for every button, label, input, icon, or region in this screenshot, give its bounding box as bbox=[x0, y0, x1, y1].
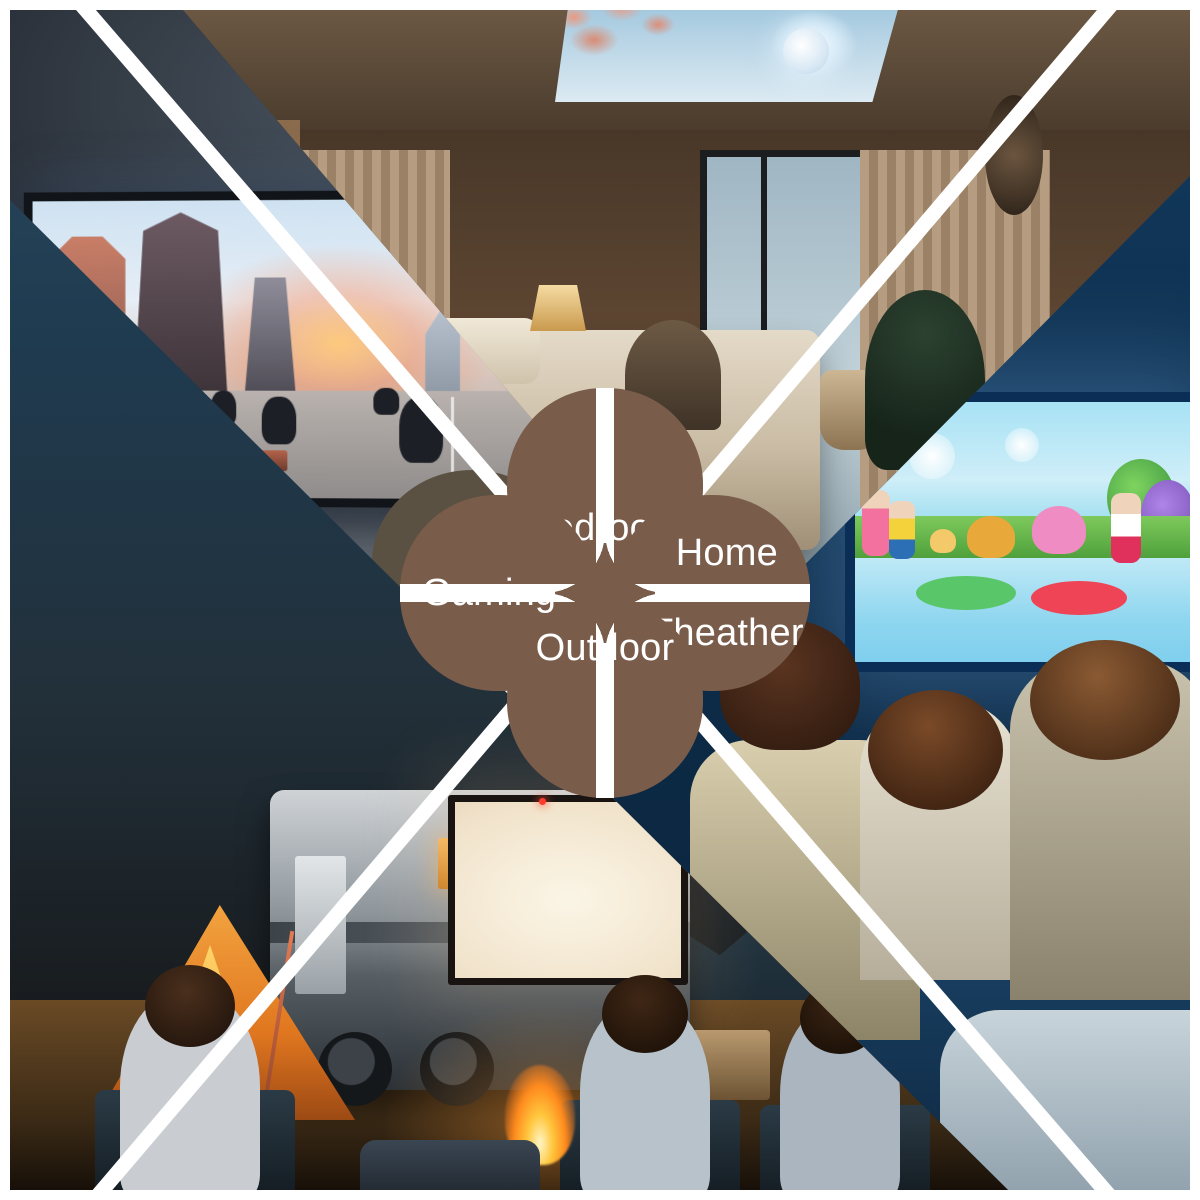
projected-moon bbox=[783, 28, 829, 74]
rv-door bbox=[295, 856, 345, 994]
bedroom-ceiling-projection bbox=[555, 2, 900, 102]
game-building bbox=[245, 277, 296, 396]
animation-toy-bear bbox=[967, 516, 1015, 558]
viewer-adult-man-hair bbox=[1030, 640, 1180, 760]
bedside-lamp bbox=[530, 285, 586, 331]
animation-cloud bbox=[1005, 428, 1039, 462]
projected-cherry-blossom bbox=[555, 2, 734, 88]
badge-center-star bbox=[555, 543, 655, 643]
viewer-child-hair bbox=[868, 690, 1003, 810]
badge-label-home-theather-line1: Home bbox=[650, 533, 804, 573]
game-character bbox=[373, 388, 399, 415]
camp-bag bbox=[360, 1140, 540, 1200]
animation-character bbox=[1111, 493, 1141, 563]
bedroom-wall-art bbox=[985, 95, 1043, 215]
animation-toy-pink bbox=[1032, 506, 1086, 554]
collage-root: Bedroom Gaming Home Theather Outdoor bbox=[0, 0, 1200, 1200]
animation-float-ring bbox=[916, 576, 1016, 610]
game-character bbox=[262, 397, 296, 445]
use-case-badge: Bedroom Gaming Home Theather Outdoor bbox=[400, 388, 810, 798]
animation-water bbox=[855, 558, 1195, 662]
camper-person-head bbox=[145, 965, 235, 1047]
animation-float-ring bbox=[1031, 581, 1127, 615]
animation-character bbox=[889, 501, 915, 559]
camper-person-head bbox=[602, 975, 688, 1053]
animation-toy-small bbox=[930, 529, 956, 553]
